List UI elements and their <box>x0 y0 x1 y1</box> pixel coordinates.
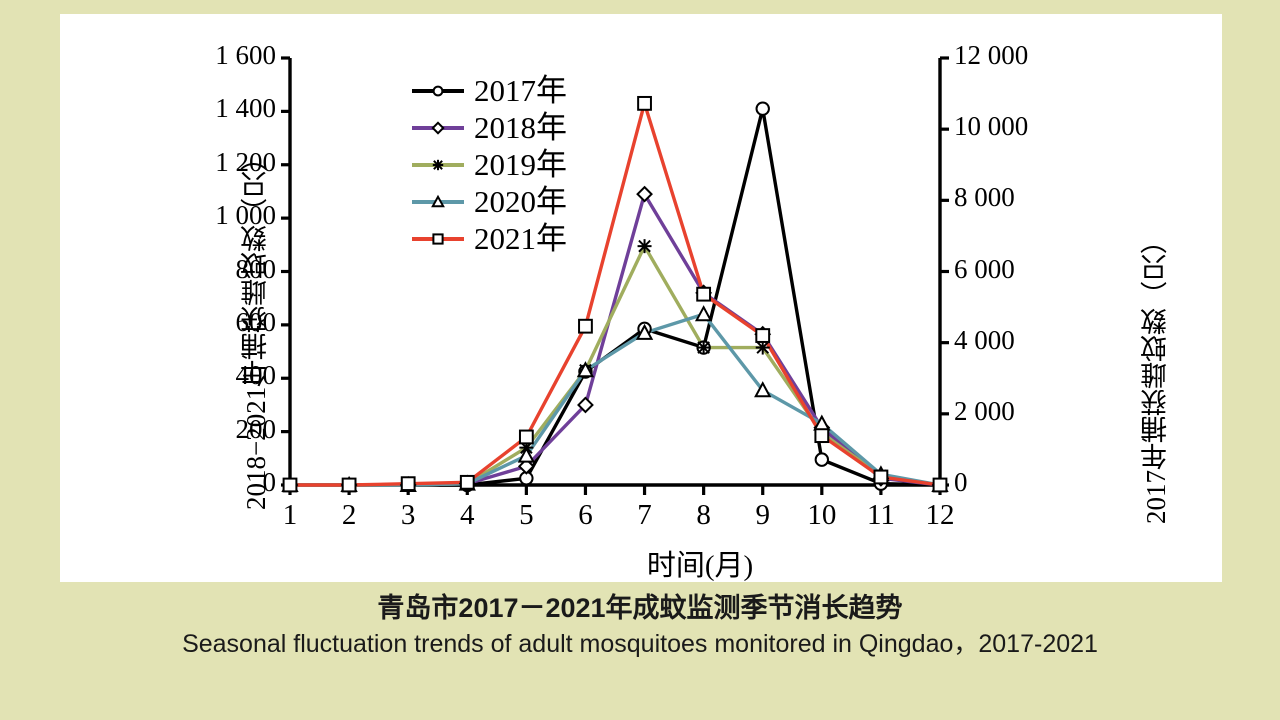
data-point-2021-m7 <box>638 97 651 110</box>
right-axis-title: 2017年捕获雌蚊数（只） <box>1136 134 1175 524</box>
caption-english: Seasonal fluctuation trends of adult mos… <box>0 628 1280 661</box>
x-axis-tick-label: 5 <box>506 501 546 530</box>
left-axis-tick-label: 1 000 <box>215 202 276 229</box>
legend-marker-circle-icon <box>412 82 464 100</box>
left-axis-tick-label: 400 <box>236 362 277 389</box>
data-point-2017-m10 <box>816 453 828 465</box>
right-axis-tick-label: 12 000 <box>954 42 1028 69</box>
right-axis-tick-label: 4 000 <box>954 327 1015 354</box>
data-point-2019-m7 <box>638 239 652 253</box>
x-axis-title: 时间(月) <box>60 542 1280 584</box>
x-axis-tick-label: 12 <box>920 501 960 530</box>
data-point-2021-m6 <box>579 320 592 333</box>
x-axis-tick-label: 2 <box>329 501 369 530</box>
data-point-2021-m12 <box>934 479 947 492</box>
data-point-2021-m11 <box>875 471 888 484</box>
right-axis-tick-label: 8 000 <box>954 184 1015 211</box>
legend-item-2017[interactable]: 2017年 <box>412 72 567 109</box>
data-point-2019-m8 <box>697 341 711 355</box>
legend-label: 2018年 <box>474 112 567 143</box>
x-axis-tick-label: 9 <box>743 501 783 530</box>
legend-marker-diamond-icon <box>412 119 464 137</box>
series-line-2020 <box>290 314 940 485</box>
chart-panel: 2018−2021年捕获雌蚊数（只） 2017年捕获雌蚊数（只） 时间(月) 2… <box>60 14 1222 582</box>
data-point-2021-m8 <box>697 288 710 301</box>
data-point-2021-m5 <box>520 431 533 444</box>
left-axis-tick-label: 600 <box>236 309 277 336</box>
x-axis-tick-label: 6 <box>565 501 605 530</box>
x-axis-tick-label: 4 <box>447 501 487 530</box>
data-point-2018-m7 <box>638 187 652 201</box>
left-axis-tick-label: 800 <box>236 256 277 283</box>
x-axis-tick-label: 11 <box>861 501 901 530</box>
legend-label: 2017年 <box>474 75 567 106</box>
x-axis-tick-label: 1 <box>270 501 310 530</box>
legend-label: 2020年 <box>474 186 567 217</box>
data-point-2020-m8 <box>697 307 711 320</box>
legend-marker-square-icon <box>412 230 464 248</box>
right-axis-tick-label: 10 000 <box>954 113 1028 140</box>
x-axis-tick-label: 8 <box>684 501 724 530</box>
figure-root: 2018−2021年捕获雌蚊数（只） 2017年捕获雌蚊数（只） 时间(月) 2… <box>0 0 1280 720</box>
figure-caption: 青岛市2017－2021年成蚊监测季节消长趋势 Seasonal fluctua… <box>0 592 1280 660</box>
left-axis-tick-label: 1 400 <box>215 95 276 122</box>
right-axis-tick-label: 0 <box>954 469 968 496</box>
left-axis-tick-label: 200 <box>236 416 277 443</box>
legend-item-2019[interactable]: 2019年 <box>412 146 567 183</box>
right-axis-tick-label: 2 000 <box>954 398 1015 425</box>
legend-item-2021[interactable]: 2021年 <box>412 220 567 257</box>
legend-item-2020[interactable]: 2020年 <box>412 183 567 220</box>
x-axis-tick-label: 10 <box>802 501 842 530</box>
left-axis-tick-label: 1 200 <box>215 149 276 176</box>
data-point-2021-m2 <box>343 479 356 492</box>
caption-chinese: 青岛市2017－2021年成蚊监测季节消长趋势 <box>0 592 1280 626</box>
data-point-2017-m9 <box>757 103 769 115</box>
data-point-2021-m1 <box>284 479 297 492</box>
legend-marker-triangle-icon <box>412 193 464 211</box>
chart-legend: 2017年2018年 2019年2020年2021年 <box>412 72 567 257</box>
x-axis-tick-label: 3 <box>388 501 428 530</box>
legend-item-2018[interactable]: 2018年 <box>412 109 567 146</box>
data-point-2021-m10 <box>815 429 828 442</box>
right-axis-tick-label: 6 000 <box>954 256 1015 283</box>
legend-label: 2021年 <box>474 223 567 254</box>
legend-marker-x-icon <box>412 156 464 174</box>
data-point-2021-m3 <box>402 477 415 490</box>
left-axis-tick-label: 1 600 <box>215 42 276 69</box>
x-axis-tick-label: 7 <box>625 501 665 530</box>
data-point-2021-m4 <box>461 476 474 489</box>
left-axis-tick-label: 0 <box>263 469 277 496</box>
legend-label: 2019年 <box>474 149 567 180</box>
data-point-2021-m9 <box>756 329 769 342</box>
